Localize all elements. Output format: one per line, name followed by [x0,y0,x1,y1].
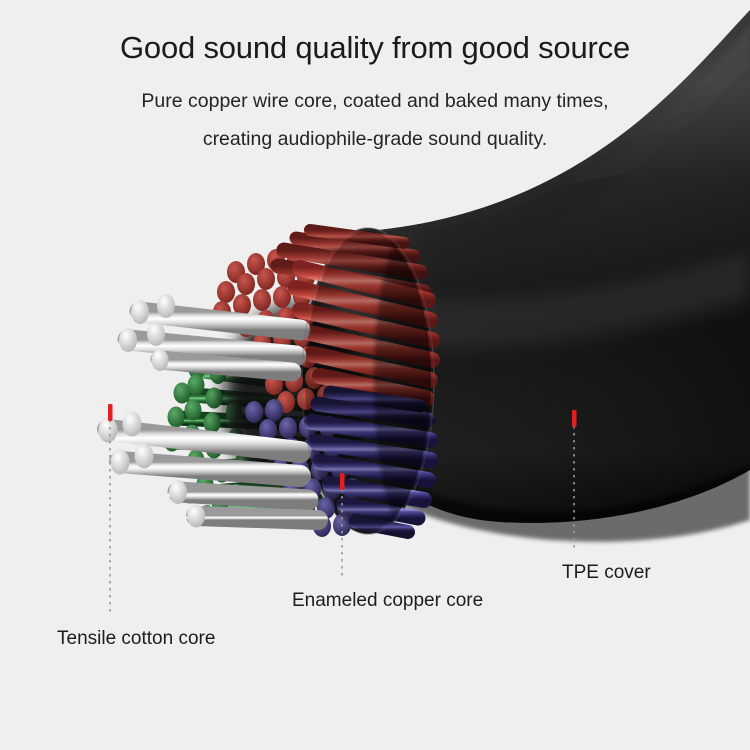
red-tick-marker [108,404,113,421]
infographic-canvas: Good sound quality from good source Pure… [0,0,750,750]
red-tick-marker [340,473,345,490]
red-tick-marker [572,410,577,427]
callout-label-tensile-cotton-core: Tensile cotton core [57,627,215,651]
callout-label-tpe-cover: TPE cover [562,561,651,585]
callout-label-enameled-copper-core: Enameled copper core [292,589,483,613]
